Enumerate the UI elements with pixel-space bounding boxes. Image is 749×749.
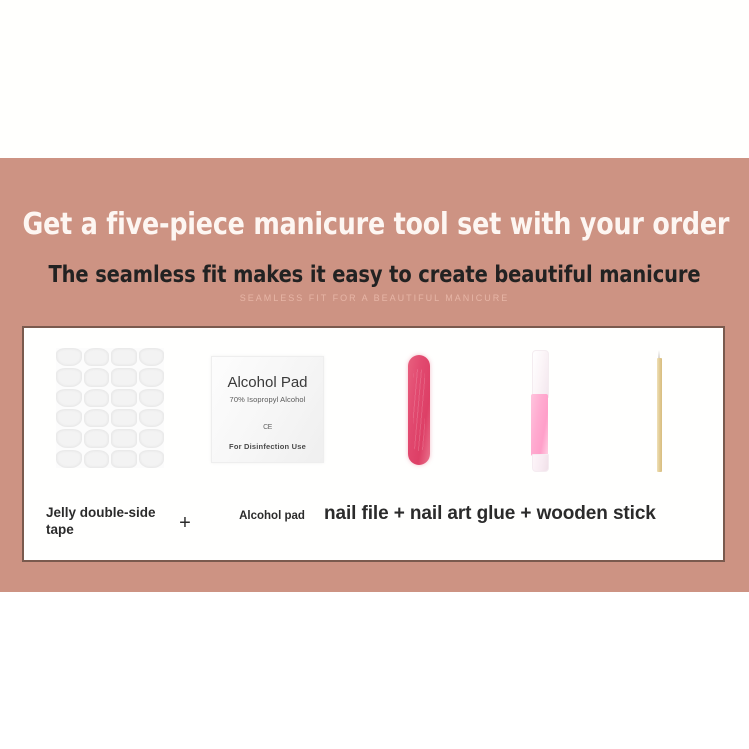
caption-jelly-tape: Jelly double-side tape	[46, 504, 168, 538]
adhesive-tab	[139, 348, 165, 366]
adhesive-tab	[84, 348, 110, 366]
product-item-wooden-stick	[600, 328, 718, 490]
product-item-nail-art-glue	[482, 328, 600, 490]
wooden-cuticle-stick-icon	[657, 350, 662, 472]
product-image-row: Alcohol Pad 70% Isopropyl Alcohol CE For…	[24, 328, 723, 490]
adhesive-tab-sheet-icon	[56, 348, 164, 468]
adhesive-tab	[56, 429, 82, 447]
adhesive-tab	[111, 409, 137, 427]
adhesive-tab	[111, 450, 137, 468]
adhesive-tab	[111, 429, 137, 447]
adhesive-tab	[139, 368, 165, 386]
alcohol-pad-sachet-icon: Alcohol Pad 70% Isopropyl Alcohol CE For…	[211, 356, 324, 463]
product-promo-banner-page: Get a five-piece manicure tool set with …	[0, 0, 749, 749]
alcohol-pad-ce-mark: CE	[212, 424, 323, 431]
promo-banner: Get a five-piece manicure tool set with …	[0, 158, 749, 592]
alcohol-pad-package-subtitle: 70% Isopropyl Alcohol	[212, 395, 323, 404]
adhesive-tab	[139, 389, 165, 407]
promo-subheadline: The seamless fit makes it easy to create…	[22, 262, 726, 288]
wooden-stick-body	[657, 358, 662, 472]
product-item-alcohol-pad: Alcohol Pad 70% Isopropyl Alcohol CE For…	[202, 328, 342, 490]
product-set-card: Alcohol Pad 70% Isopropyl Alcohol CE For…	[22, 326, 725, 562]
product-caption-row: Jelly double-side tape + Alcohol pad nai…	[24, 490, 723, 562]
caption-alcohol-pad: Alcohol pad	[204, 510, 340, 522]
adhesive-tab	[139, 429, 165, 447]
adhesive-tab	[111, 348, 137, 366]
adhesive-tab	[84, 368, 110, 386]
caption-tools-group: nail file + nail art glue + wooden stick	[324, 502, 714, 526]
alcohol-pad-package-footer: For Disinfection Use	[212, 442, 323, 451]
adhesive-tab	[56, 368, 82, 386]
nail-file-icon	[408, 355, 430, 465]
adhesive-tab	[111, 389, 137, 407]
adhesive-tab	[84, 409, 110, 427]
promo-headline: Get a five-piece manicure tool set with …	[22, 207, 726, 242]
bottom-white-band	[0, 592, 749, 749]
adhesive-tab	[84, 450, 110, 468]
product-item-nail-file	[364, 328, 482, 490]
caption-plus-separator: +	[172, 512, 198, 535]
top-white-band	[0, 0, 749, 158]
adhesive-tab	[111, 368, 137, 386]
product-set-card-inner: Alcohol Pad 70% Isopropyl Alcohol CE For…	[24, 328, 723, 560]
adhesive-tab	[84, 389, 110, 407]
adhesive-tab	[56, 389, 82, 407]
glue-tube-icon	[531, 350, 548, 470]
adhesive-tab	[56, 450, 82, 468]
promo-microcopy: SEAMLESS FIT FOR A BEAUTIFUL MANICURE	[0, 293, 749, 303]
glue-tube-body	[531, 394, 548, 456]
adhesive-tab	[56, 409, 82, 427]
adhesive-tab	[139, 409, 165, 427]
adhesive-tab	[56, 348, 82, 366]
alcohol-pad-package-title: Alcohol Pad	[212, 374, 323, 391]
glue-tube-base	[532, 454, 549, 472]
product-item-jelly-tape	[40, 328, 180, 490]
adhesive-tab	[139, 450, 165, 468]
glue-tube-cap	[532, 350, 549, 398]
adhesive-tab	[84, 429, 110, 447]
